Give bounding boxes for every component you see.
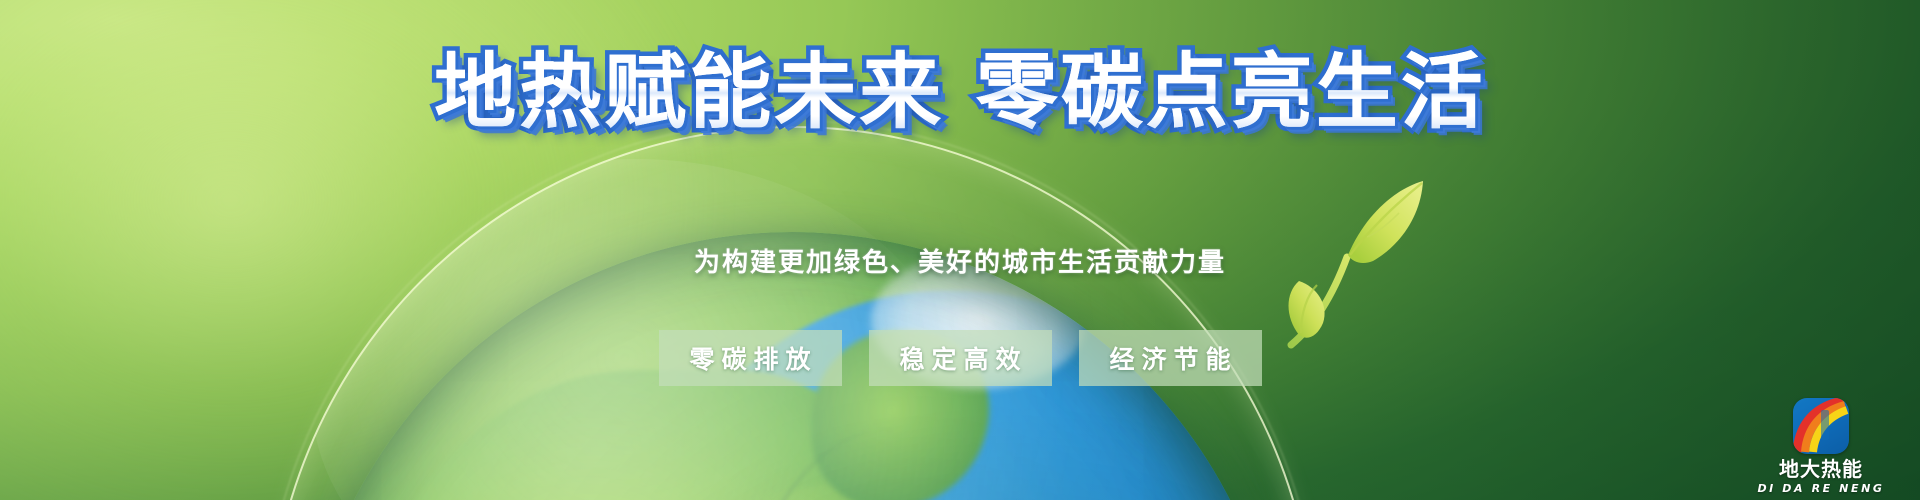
logo-company-name-cn: 地大热能: [1779, 459, 1863, 479]
banner-subtitle: 为构建更加绿色、美好的城市生活贡献力量: [0, 242, 1920, 279]
feature-tag-economical[interactable]: 经济节能: [1079, 330, 1262, 386]
logo-company-name-en: DI DA RE NENG: [1757, 483, 1884, 494]
page-title: 地热赋能未来 零碳点亮生活: [0, 52, 1920, 134]
promo-banner: 地热赋能未来 零碳点亮生活 地热赋能未来 零碳点亮生活 为构建更加绿色、美好的城…: [0, 0, 1920, 500]
feature-tag-list: 零碳排放 稳定高效 经济节能: [0, 330, 1920, 386]
feature-tag-stable-efficient[interactable]: 稳定高效: [869, 330, 1052, 386]
banner-content: 地热赋能未来 零碳点亮生活 地热赋能未来 零碳点亮生活 为构建更加绿色、美好的城…: [0, 0, 1920, 500]
company-logo[interactable]: 地大热能 DI DA RE NENG: [1746, 398, 1896, 494]
feature-tag-zero-carbon[interactable]: 零碳排放: [659, 330, 842, 386]
rainbow-swoosh-icon: [1793, 398, 1849, 454]
